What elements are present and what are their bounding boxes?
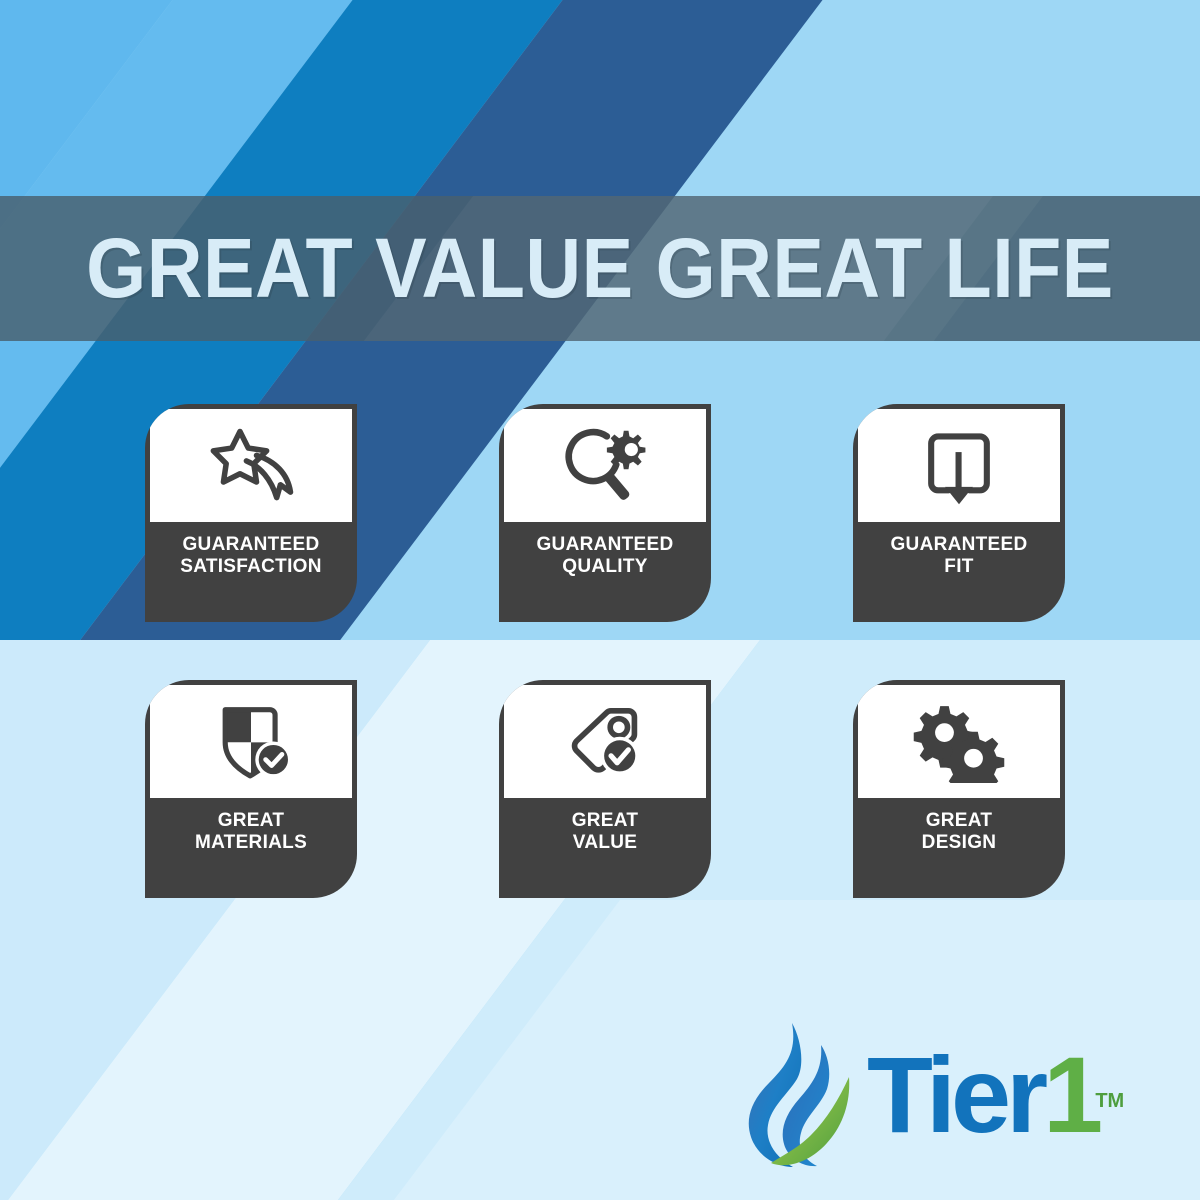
gears-icon (858, 685, 1060, 798)
headline-banner: GREAT VALUE GREAT LIFE (0, 196, 1200, 341)
badge-guaranteed-quality[interactable]: GUARANTEED QUALITY (499, 404, 711, 622)
badge-guaranteed-satisfaction[interactable]: GUARANTEED SATISFACTION (145, 404, 357, 622)
logo-wordmark: Tier1 TM (867, 1041, 1098, 1149)
logo-text-one: 1 (1043, 1034, 1098, 1155)
badge-great-materials[interactable]: GREAT MATERIALS (145, 680, 357, 898)
badge-great-design[interactable]: GREAT DESIGN (853, 680, 1065, 898)
badge-label: GREAT VALUE (499, 810, 711, 854)
magnifier-gear-icon (504, 409, 706, 522)
badge-label: GREAT DESIGN (853, 810, 1065, 854)
brand-logo[interactable]: Tier1 TM (735, 1020, 1155, 1170)
shield-check-icon (150, 685, 352, 798)
water-drop-leaf-icon (735, 1021, 853, 1169)
insert-down-arrow-icon (858, 409, 1060, 522)
badge-label: GUARANTEED FIT (853, 534, 1065, 578)
badge-label: GUARANTEED QUALITY (499, 534, 711, 578)
badge-guaranteed-fit[interactable]: GUARANTEED FIT (853, 404, 1065, 622)
logo-text-tier: Tier (867, 1034, 1043, 1155)
page-title: GREAT VALUE GREAT LIFE (48, 196, 1152, 341)
feature-badge-grid: GUARANTEED SATISFACTION GUARANTEED QUALI… (0, 404, 1200, 898)
price-tag-check-icon (504, 685, 706, 798)
trademark-symbol: TM (1095, 1047, 1124, 1155)
badge-great-value[interactable]: GREAT VALUE (499, 680, 711, 898)
badge-label: GREAT MATERIALS (145, 810, 357, 854)
shooting-star-icon (150, 409, 352, 522)
promo-graphic: GREAT VALUE GREAT LIFE GUARANTEED SATISF… (0, 0, 1200, 1200)
badge-label: GUARANTEED SATISFACTION (145, 534, 357, 578)
